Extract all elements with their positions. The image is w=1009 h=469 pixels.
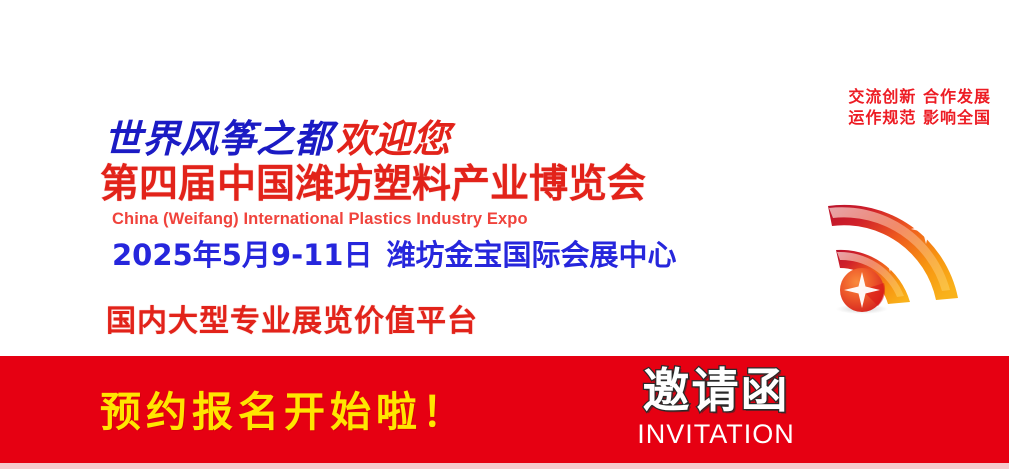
slogan-line-1: 交流创新 合作发展 bbox=[848, 86, 991, 107]
registration-cta-text: 预约报名开始啦！ bbox=[100, 378, 468, 438]
kite-welcome-blue: 世界风筝之都 bbox=[104, 116, 332, 161]
expo-tagline: 国内大型专业展览价值平台 bbox=[106, 296, 800, 340]
expo-title-cn: 第四届中国潍坊塑料产业博览会 bbox=[100, 163, 800, 208]
date-venue-line: 2025年5月9-11日潍坊金宝国际会展中心 bbox=[112, 232, 800, 274]
expo-date: 2025年5月9-11日 bbox=[112, 238, 372, 272]
poster-canvas: 交流创新 合作发展 运作规范 影响全国 bbox=[0, 0, 1009, 469]
headline-block: 世界风筝之都欢迎您 第四届中国潍坊塑料产业博览会 China (Weifang)… bbox=[100, 118, 800, 340]
slogan-line-2: 运作规范 影响全国 bbox=[848, 107, 991, 128]
invitation-block: 邀请函 INVITATION bbox=[596, 368, 836, 448]
expo-venue: 潍坊金宝国际会展中心 bbox=[386, 238, 676, 272]
invitation-title-cn: 邀请函 bbox=[596, 368, 836, 415]
wifi-arc-logo-icon bbox=[818, 178, 994, 318]
banner-bottom-strip bbox=[0, 463, 1009, 469]
kite-welcome-line: 世界风筝之都欢迎您 bbox=[104, 118, 800, 161]
expo-title-en: China (Weifang) International Plastics I… bbox=[112, 210, 800, 229]
slogan-block: 交流创新 合作发展 运作规范 影响全国 bbox=[848, 86, 991, 128]
invitation-title-en: INVITATION bbox=[596, 421, 836, 448]
kite-welcome-red: 欢迎您 bbox=[336, 116, 450, 161]
